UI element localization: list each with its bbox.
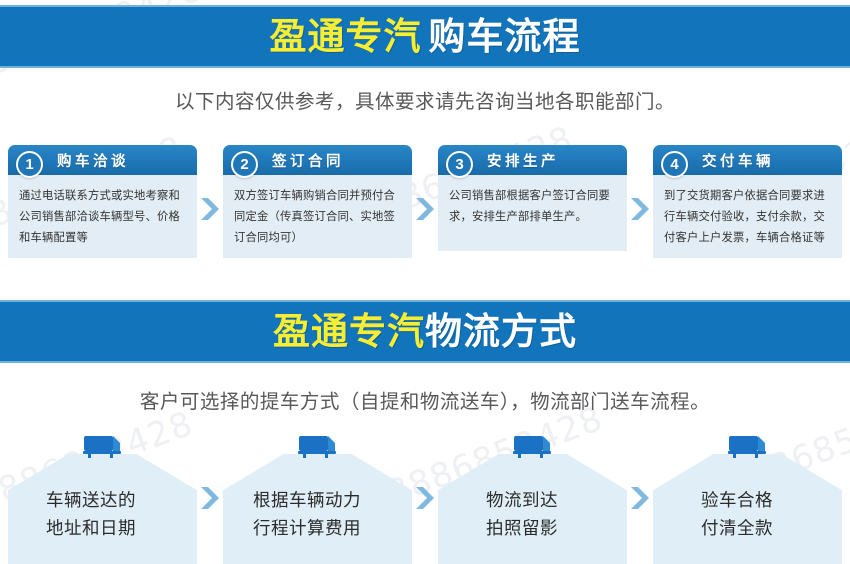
purchase-process-banner: 盈通专汽购车流程 xyxy=(0,5,850,68)
logistics-card-line2: 拍照留影 xyxy=(486,514,558,542)
logistics-card-text: 车辆送达的 地址和日期 xyxy=(46,486,136,543)
truck-icon xyxy=(295,432,341,467)
chevron-right-icon xyxy=(197,432,223,564)
purchase-process-subtitle: 以下内容仅供参考，具体要求请先咨询当地各职能部门。 xyxy=(0,85,850,114)
logistics-card[interactable]: 车辆送达的 地址和日期 xyxy=(8,432,197,564)
step-card-title: 购车洽谈 xyxy=(57,150,129,171)
chevron-right-icon xyxy=(627,196,653,222)
logistics-card[interactable]: 物流到达 拍照留影 xyxy=(438,432,627,564)
step-card-header: 4 交付车辆 xyxy=(653,145,842,175)
logistics-card-line1: 车辆送达的 xyxy=(46,486,136,514)
logistics-card-line2: 付清全款 xyxy=(701,514,773,542)
logistics-card-line2: 地址和日期 xyxy=(46,514,136,542)
step-card-title: 签订合同 xyxy=(272,150,344,171)
truck-icon xyxy=(725,432,771,467)
step-card-body: 公司销售部根据客户签订合同要求，安排生产部排单生产。 xyxy=(438,175,627,251)
step-number-badge: 3 xyxy=(446,151,473,178)
logistics-card-text: 物流到达 拍照留影 xyxy=(486,486,558,543)
step-card[interactable]: 4 交付车辆 到了交货期客户依据合同要求进行车辆交付验收，支付余款，交付客户上户… xyxy=(653,145,842,258)
banner-title: 盈通专汽购车流程 xyxy=(270,18,581,55)
banner-brand-text: 盈通专汽 xyxy=(273,311,425,352)
step-card[interactable]: 1 购车洽谈 通过电话联系方式或实地考察和公司销售部洽谈车辆型号、价格和车辆配置… xyxy=(8,145,197,258)
logistics-banner: 盈通专汽物流方式 xyxy=(0,300,850,363)
step-number-badge: 4 xyxy=(661,151,688,178)
logistics-card-line1: 根据车辆动力 xyxy=(253,486,361,514)
page-root: 13886852428 13886852428 13886852428 1388… xyxy=(0,0,850,564)
step-card-header: 2 签订合同 xyxy=(223,145,412,175)
chevron-right-icon xyxy=(412,432,438,564)
banner-title: 盈通专汽物流方式 xyxy=(273,313,577,350)
step-card-title: 交付车辆 xyxy=(702,150,774,171)
step-number-badge: 1 xyxy=(16,151,43,178)
purchase-steps-row: 1 购车洽谈 通过电话联系方式或实地考察和公司销售部洽谈车辆型号、价格和车辆配置… xyxy=(8,145,842,255)
step-card-body: 到了交货期客户依据合同要求进行车辆交付验收，支付余款，交付客户上户发票，车辆合格… xyxy=(653,175,842,258)
step-card-body: 通过电话联系方式或实地考察和公司销售部洽谈车辆型号、价格和车辆配置等 xyxy=(8,175,197,258)
chevron-right-icon xyxy=(627,432,653,564)
logistics-card-text: 验车合格 付清全款 xyxy=(701,486,773,543)
truck-icon xyxy=(80,432,126,467)
logistics-card-text: 根据车辆动力 行程计算费用 xyxy=(253,486,361,543)
logistics-card[interactable]: 验车合格 付清全款 xyxy=(653,432,842,564)
logistics-card-line2: 行程计算费用 xyxy=(253,514,361,542)
step-card-header: 1 购车洽谈 xyxy=(8,145,197,175)
logistics-card-line1: 验车合格 xyxy=(701,486,773,514)
banner-brand-text: 盈通专汽 xyxy=(270,16,422,57)
banner-title-text: 购车流程 xyxy=(429,16,581,57)
chevron-right-icon xyxy=(197,196,223,222)
step-card[interactable]: 2 签订合同 双方签订车辆购销合同并预付合同定金（传真签订合同、实地签订合同均可… xyxy=(223,145,412,258)
banner-title-text: 物流方式 xyxy=(425,311,577,352)
step-number-badge: 2 xyxy=(231,151,258,178)
logistics-card-line1: 物流到达 xyxy=(486,486,558,514)
step-card[interactable]: 3 安排生产 公司销售部根据客户签订合同要求，安排生产部排单生产。 xyxy=(438,145,627,251)
truck-icon xyxy=(510,432,556,467)
chevron-right-icon xyxy=(412,196,438,222)
step-card-body: 双方签订车辆购销合同并预付合同定金（传真签订合同、实地签订合同均可） xyxy=(223,175,412,258)
step-card-title: 安排生产 xyxy=(487,150,559,171)
logistics-cards-row: 车辆送达的 地址和日期 根据车辆动力 行程计算 xyxy=(8,432,842,564)
step-card-header: 3 安排生产 xyxy=(438,145,627,175)
logistics-card[interactable]: 根据车辆动力 行程计算费用 xyxy=(223,432,412,564)
logistics-subtitle: 客户可选择的提车方式（自提和物流送车），物流部门送车流程。 xyxy=(0,385,850,414)
